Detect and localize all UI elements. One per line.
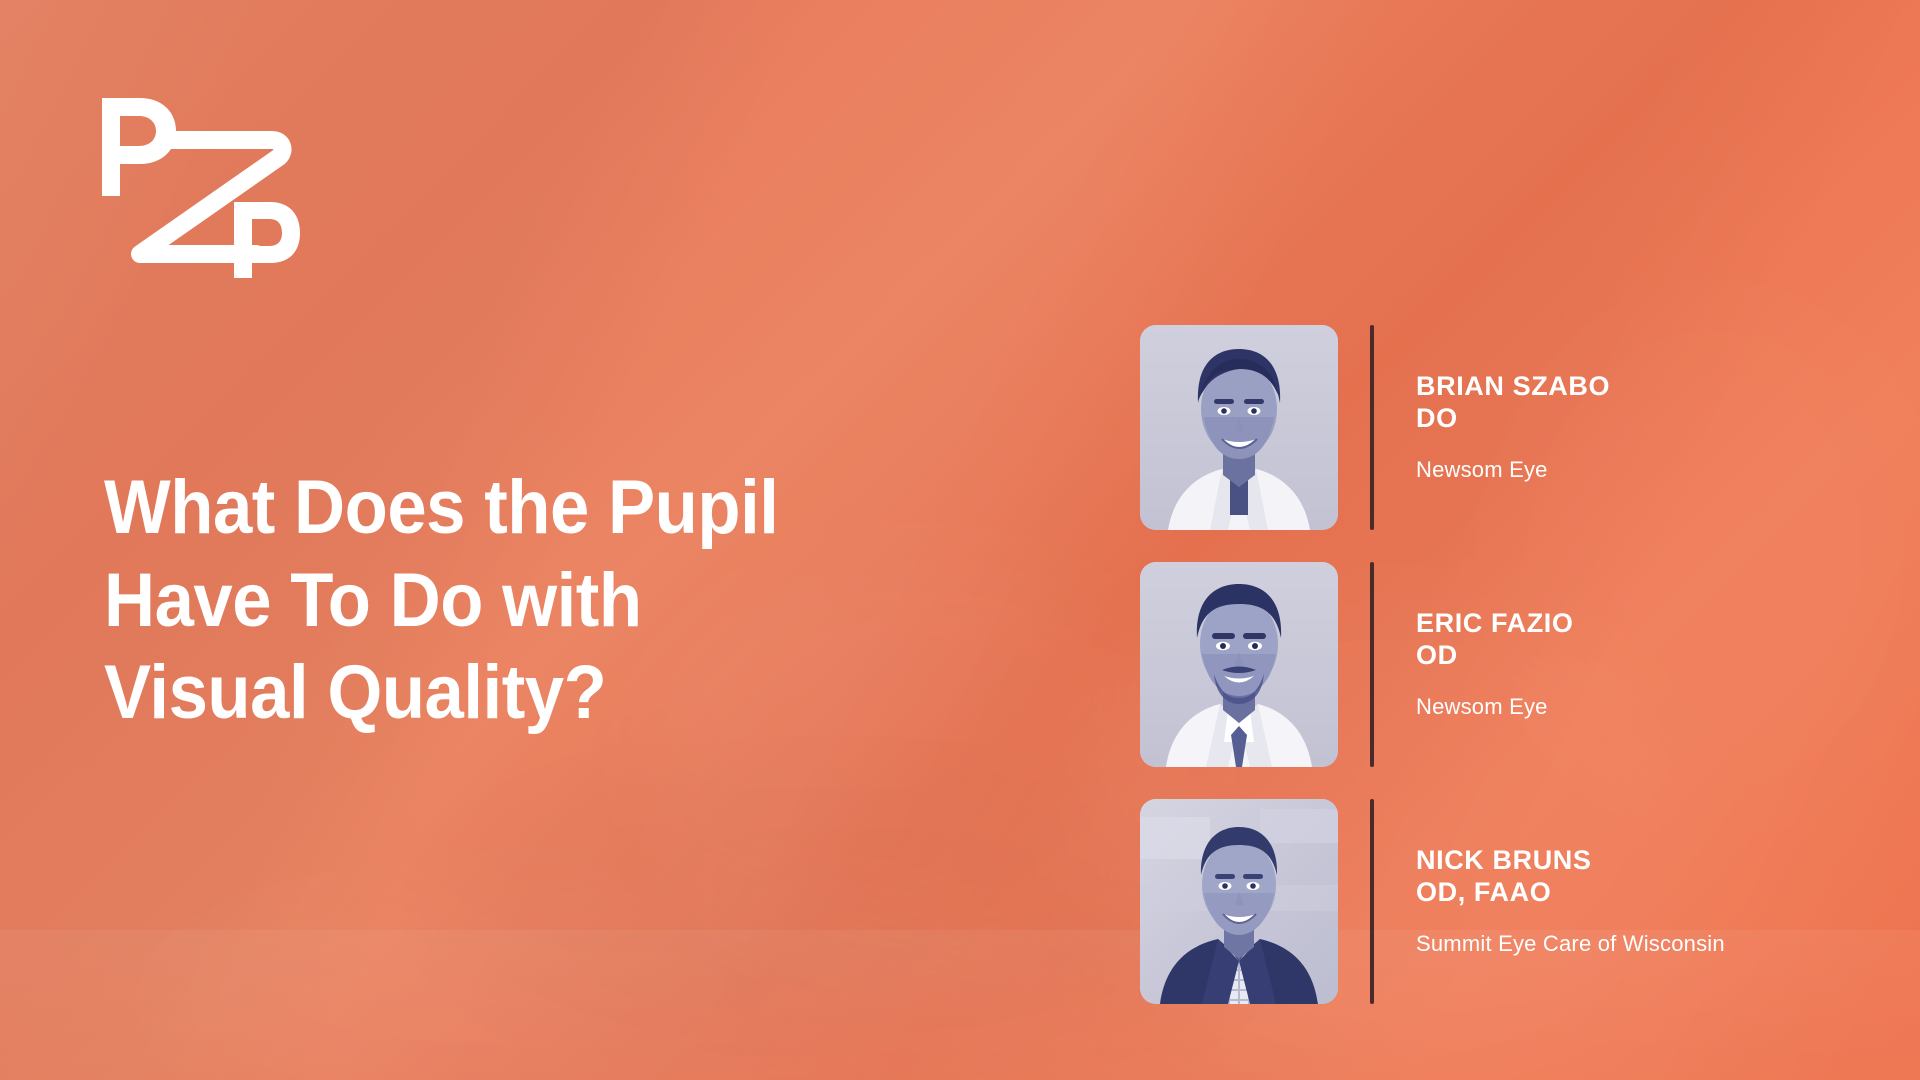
speaker-credentials: OD	[1416, 640, 1574, 672]
portrait-eric-fazio	[1140, 562, 1338, 767]
speaker-divider	[1370, 562, 1374, 767]
page-title-line-3: Visual Quality?	[104, 647, 941, 740]
speaker-info: ERIC FAZIO OD Newsom Eye	[1416, 562, 1574, 767]
speaker-info: BRIAN SZABO DO Newsom Eye	[1416, 325, 1610, 530]
speaker-item: NICK BRUNS OD, FAAO Summit Eye Care of W…	[1140, 799, 1725, 1004]
p2p-logo	[96, 92, 300, 278]
speaker-list: BRIAN SZABO DO Newsom Eye	[1140, 325, 1725, 1004]
speaker-info: NICK BRUNS OD, FAAO Summit Eye Care of W…	[1416, 799, 1725, 1004]
speaker-divider	[1370, 799, 1374, 1004]
speaker-organization: Newsom Eye	[1416, 694, 1574, 720]
logo-letter-p-bottom	[234, 202, 300, 278]
portrait-nick-bruns	[1140, 799, 1338, 1004]
speaker-name: NICK BRUNS	[1416, 845, 1725, 877]
page-title-line-1: What Does the Pupil	[104, 462, 941, 555]
portrait-brian-szabo	[1140, 325, 1338, 530]
speaker-name: ERIC FAZIO	[1416, 608, 1574, 640]
speaker-item: BRIAN SZABO DO Newsom Eye	[1140, 325, 1725, 530]
speaker-credentials: DO	[1416, 403, 1610, 435]
page-title: What Does the Pupil Have To Do with Visu…	[104, 462, 941, 740]
page-title-line-2: Have To Do with	[104, 555, 941, 648]
speaker-item: ERIC FAZIO OD Newsom Eye	[1140, 562, 1725, 767]
speaker-organization: Summit Eye Care of Wisconsin	[1416, 931, 1725, 957]
speaker-credentials: OD, FAAO	[1416, 877, 1725, 909]
speaker-name: BRIAN SZABO	[1416, 371, 1610, 403]
speaker-organization: Newsom Eye	[1416, 457, 1610, 483]
speaker-divider	[1370, 325, 1374, 530]
